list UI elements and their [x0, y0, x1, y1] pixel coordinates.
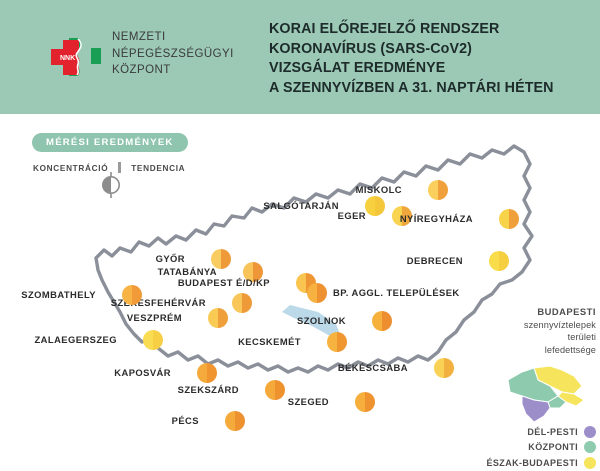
title-line-3: VIZSGÁLAT EREDMÉNYE: [269, 59, 599, 79]
inset-legend-swatch: [584, 457, 596, 469]
inset-title-line-4: lefedettsége: [498, 344, 596, 357]
city-label: GYŐR: [156, 253, 185, 264]
org-line-2: NÉPEGÉSZSÉGÜGYI: [112, 46, 234, 63]
concentration-half: [208, 308, 218, 328]
trend-half: [499, 251, 509, 271]
trend-half: [153, 330, 163, 350]
inset-legend-label: DÉL-PESTI: [527, 427, 578, 437]
split-circle-marker: [365, 196, 385, 216]
logo-monogram: NNK: [60, 55, 75, 62]
city-label: EGER: [338, 210, 366, 221]
trend-half: [132, 285, 142, 305]
inset-legend: DÉL-PESTIKÖZPONTIÉSZAK-BUDAPESTI: [480, 424, 596, 471]
concentration-half: [143, 330, 153, 350]
org-line-3: KÖZPONT: [112, 62, 234, 79]
city-label: PÉCS: [172, 415, 199, 426]
inset-legend-label: ÉSZAK-BUDAPESTI: [486, 458, 578, 468]
concentration-half: [434, 358, 444, 378]
city-label: SZEGED: [288, 396, 329, 407]
concentration-half: [365, 196, 375, 216]
split-circle-marker: [489, 251, 509, 271]
concentration-half: [296, 273, 306, 293]
concentration-half: [428, 180, 438, 200]
trend-half: [365, 392, 375, 412]
split-circle-marker: [232, 293, 252, 313]
inset-title: BUDAPESTI szennyvíztelepek területi lefe…: [498, 306, 596, 356]
inset-title-line-3: területi: [498, 331, 596, 344]
split-circle-marker: [434, 358, 454, 378]
concentration-half: [225, 411, 235, 431]
city-label: BP. AGGL. TELEPÜLÉSEK: [333, 287, 460, 298]
organization-name: NEMZETI NÉPEGÉSZSÉGÜGYI KÖZPONT: [112, 29, 234, 79]
trend-half: [218, 308, 228, 328]
split-circle-marker: [122, 285, 142, 305]
inset-legend-label: KÖZPONTI: [528, 442, 578, 452]
split-circle-marker: [197, 363, 217, 383]
trend-half: [221, 249, 231, 269]
city-label: DEBRECEN: [407, 255, 463, 266]
concentration-half: [197, 363, 207, 383]
title-line-1: KORAI ELŐREJELZŐ RENDSZER: [269, 20, 599, 40]
split-circle-marker: [225, 411, 245, 431]
city-label: MISKOLC: [356, 184, 402, 195]
split-circle-marker: [499, 209, 519, 229]
concentration-half: [327, 332, 337, 352]
city-label: BUDAPEST É/D/KP: [178, 277, 270, 288]
city-label: SZOMBATHELY: [21, 289, 96, 300]
split-circle-marker: [265, 380, 285, 400]
city-label: VESZPRÉM: [127, 312, 182, 323]
inset-title-line-1: BUDAPESTI: [498, 306, 596, 319]
concentration-half: [307, 283, 317, 303]
inset-legend-swatch: [584, 426, 596, 438]
trend-half: [242, 293, 252, 313]
concentration-half: [489, 251, 499, 271]
inset-legend-row: ÉSZAK-BUDAPESTI: [480, 455, 596, 471]
split-circle-marker: [307, 283, 327, 303]
trend-half: [337, 332, 347, 352]
split-circle-marker: [428, 180, 448, 200]
city-label: ZALAEGERSZEG: [35, 334, 118, 345]
concentration-half: [499, 209, 509, 229]
budapest-district-inset-map: [500, 366, 596, 422]
concentration-half: [122, 285, 132, 305]
trend-half: [509, 209, 519, 229]
split-circle-marker: [372, 311, 392, 331]
split-circle-marker: [355, 392, 375, 412]
concentration-half: [265, 380, 275, 400]
city-label: BÉKÉSCSABA: [338, 362, 408, 373]
split-circle-marker: [327, 332, 347, 352]
header-banner: NNK NEMZETI NÉPEGÉSZSÉGÜGYI KÖZPONT KORA…: [0, 0, 600, 114]
trend-half: [207, 363, 217, 383]
trend-half: [375, 196, 385, 216]
nnk-cross-profile-logo: NNK: [45, 26, 107, 84]
concentration-half: [232, 293, 242, 313]
org-line-1: NEMZETI: [112, 29, 234, 46]
trend-half: [235, 411, 245, 431]
concentration-half: [355, 392, 365, 412]
split-circle-marker: [143, 330, 163, 350]
city-label: KAPOSVÁR: [114, 367, 171, 378]
title-line-2: KORONAVÍRUS (SARS-CoV2): [269, 40, 599, 60]
city-label: NYÍREGYHÁZA: [400, 213, 473, 224]
city-label: SALGÓTARJÁN: [263, 200, 339, 211]
inset-legend-row: DÉL-PESTI: [480, 424, 596, 440]
trend-half: [317, 283, 327, 303]
concentration-half: [372, 311, 382, 331]
inset-title-line-2: szennyvíztelepek: [498, 319, 596, 332]
inset-legend-row: KÖZPONTI: [480, 440, 596, 456]
trend-half: [382, 311, 392, 331]
trend-half: [438, 180, 448, 200]
city-label: SZEKSZÁRD: [178, 384, 239, 395]
city-label: TATABÁNYA: [158, 266, 217, 277]
trend-half: [275, 380, 285, 400]
city-label: KECSKEMÉT: [238, 336, 301, 347]
inset-legend-swatch: [584, 441, 596, 453]
title-line-4: A SZENNYVÍZBEN A 31. NAPTÁRI HÉTEN: [269, 79, 599, 99]
city-label: SZOLNOK: [297, 315, 346, 326]
split-circle-marker: [208, 308, 228, 328]
page-title: KORAI ELŐREJELZŐ RENDSZER KORONAVÍRUS (S…: [269, 20, 599, 98]
trend-half: [444, 358, 454, 378]
